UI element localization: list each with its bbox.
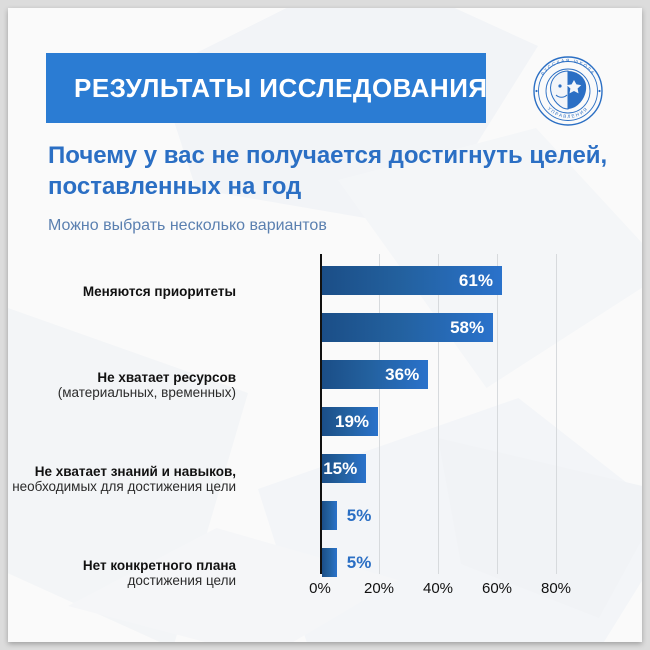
- x-tick-60: 60%: [482, 580, 512, 597]
- category-label: Меняются приоритеты: [8, 284, 236, 300]
- category-label-line1: Меняются приоритеты: [8, 284, 236, 300]
- category-label-line1: Не хватает знаний и навыков,: [8, 464, 236, 480]
- bar: 58%: [322, 313, 493, 342]
- bar-value-label: 19%: [335, 407, 369, 436]
- logo: РУССКАЯ ШКОЛА УПРАВЛЕНИЯ: [527, 50, 609, 132]
- category-label-line2: необходимых для достижения цели: [8, 479, 236, 495]
- category-label: Не хватает знаний и навыков,необходимых …: [8, 464, 236, 496]
- page-subtitle: Можно выбрать несколько вариантов: [48, 217, 327, 235]
- bar-value-label: 5%: [347, 501, 372, 530]
- x-tick-40: 40%: [423, 580, 453, 597]
- bar: [322, 548, 337, 577]
- banner-title: РЕЗУЛЬТАТЫ ИССЛЕДОВАНИЯ: [74, 73, 488, 104]
- bar: 36%: [322, 360, 428, 389]
- title-banner: РЕЗУЛЬТАТЫ ИССЛЕДОВАНИЯ: [46, 53, 486, 123]
- x-tick-20: 20%: [364, 580, 394, 597]
- infographic-canvas: РЕЗУЛЬТАТЫ ИССЛЕДОВАНИЯ РУССКАЯ ШКОЛА УП…: [8, 8, 642, 642]
- bar: 15%: [322, 454, 366, 483]
- bar-row: 19%Нет конкретного планадостижения цели: [320, 407, 570, 436]
- x-axis-ticks: 0%20%40%60%80%: [320, 580, 580, 604]
- category-label: Нет конкретного планадостижения цели: [8, 558, 236, 590]
- page-title: Почему у вас не получается достигнуть це…: [48, 141, 608, 202]
- bar-row: 58%Не хватает ресурсов(материальных, вре…: [320, 313, 570, 342]
- bar: [322, 501, 337, 530]
- bar: 61%: [322, 266, 502, 295]
- bar-row: 5%Другое: [320, 548, 570, 577]
- bar-value-label: 15%: [323, 454, 357, 483]
- bar-row: 61%Меняются приоритеты: [320, 266, 570, 295]
- bar-row: 5%Цели забываются: [320, 501, 570, 530]
- category-label-line1: Не хватает ресурсов: [8, 370, 236, 386]
- category-label-line1: Нет конкретного плана: [8, 558, 236, 574]
- bar-value-label: 58%: [450, 313, 484, 342]
- bar-row: 15%Нет мотивации: [320, 454, 570, 483]
- bar: 19%: [322, 407, 378, 436]
- plot-area: 61%Меняются приоритеты58%Не хватает ресу…: [320, 254, 570, 574]
- bar-value-label: 61%: [459, 266, 493, 295]
- category-label-line2: достижения цели: [8, 573, 236, 589]
- bar-value-label: 5%: [347, 548, 372, 577]
- bar-value-label: 36%: [385, 360, 419, 389]
- x-tick-80: 80%: [541, 580, 571, 597]
- bar-row: 36%Не хватает знаний и навыков,необходим…: [320, 360, 570, 389]
- bar-chart: 61%Меняются приоритеты58%Не хватает ресу…: [8, 254, 642, 614]
- category-label: Не хватает ресурсов(материальных, времен…: [8, 370, 236, 402]
- category-label-line2: (материальных, временных): [8, 385, 236, 401]
- x-tick-0: 0%: [309, 580, 331, 597]
